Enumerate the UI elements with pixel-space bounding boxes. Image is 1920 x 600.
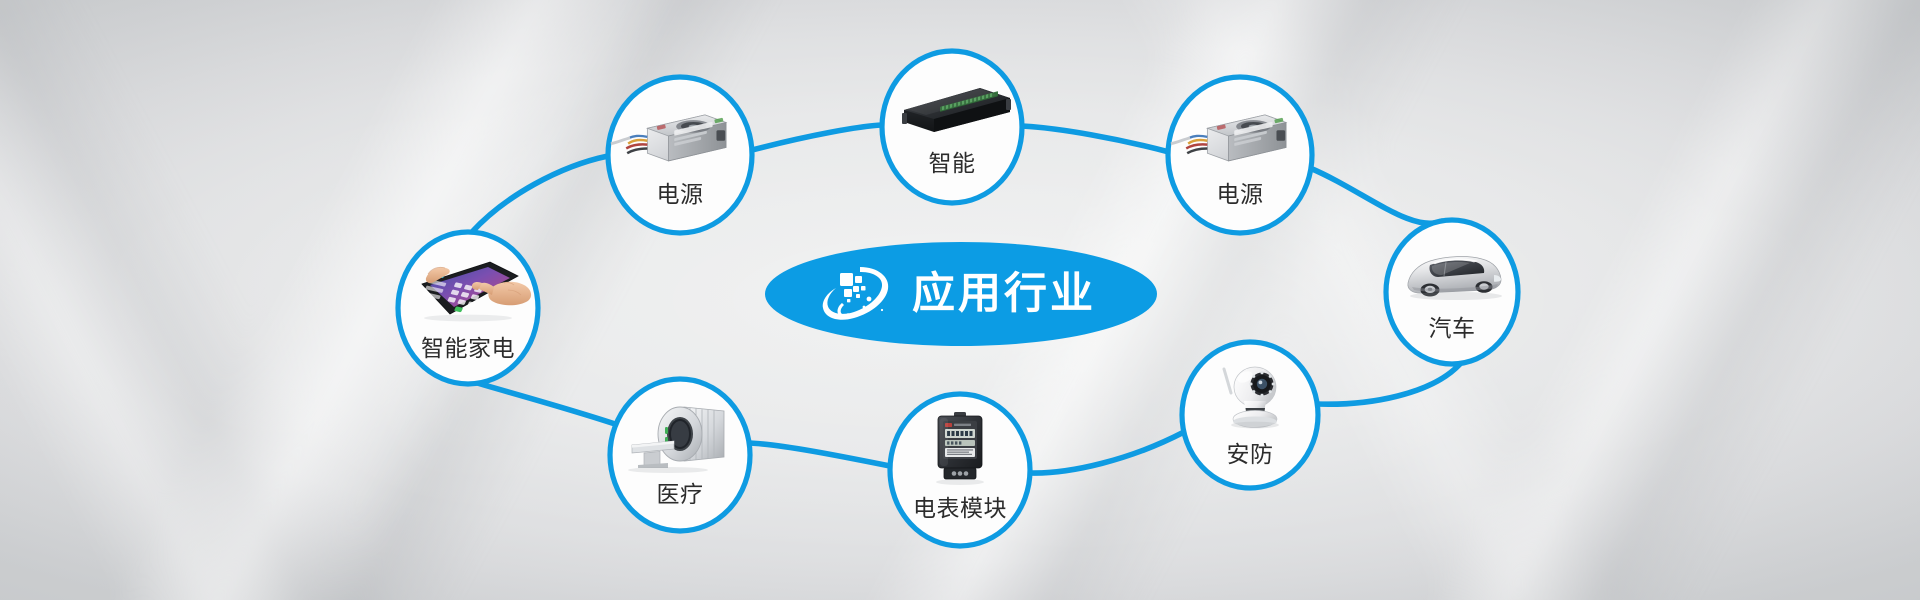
center-title: 应用行业 bbox=[912, 273, 1096, 316]
node-label-power-supply-left: 电源 bbox=[657, 183, 704, 206]
node-ring-automotive[interactable] bbox=[1386, 220, 1518, 364]
node-label-security: 安防 bbox=[1227, 443, 1274, 466]
node-label-medical: 医疗 bbox=[657, 483, 704, 506]
connector-power-left-to-smart bbox=[752, 125, 882, 150]
node-ring-smart-home[interactable] bbox=[398, 232, 538, 384]
node-label-automotive: 汽车 bbox=[1429, 317, 1476, 340]
connector-smart-home-to-power-left bbox=[472, 156, 608, 232]
application-industries-banner: 电源 智能 电源 汽车 安防 电表模块 医疗 智能家电 bbox=[0, 0, 1920, 600]
node-label-meter-module: 电表模块 bbox=[913, 497, 1007, 520]
center-badge: 应用行业 bbox=[765, 242, 1157, 346]
connector-security-to-meter bbox=[1030, 432, 1184, 473]
connector-meter-to-medical bbox=[748, 443, 890, 466]
node-label-power-supply-right: 电源 bbox=[1217, 183, 1264, 206]
connector-smart-to-power-right bbox=[1022, 126, 1169, 152]
node-label-smart-home: 智能家电 bbox=[421, 337, 515, 360]
node-label-smart-device: 智能 bbox=[929, 152, 976, 175]
connector-power-right-to-automotive bbox=[1310, 168, 1442, 223]
orbit-pixel-logo-icon bbox=[820, 263, 894, 325]
connector-medical-to-smart-home bbox=[474, 382, 615, 424]
connector-automotive-to-security bbox=[1316, 364, 1460, 404]
